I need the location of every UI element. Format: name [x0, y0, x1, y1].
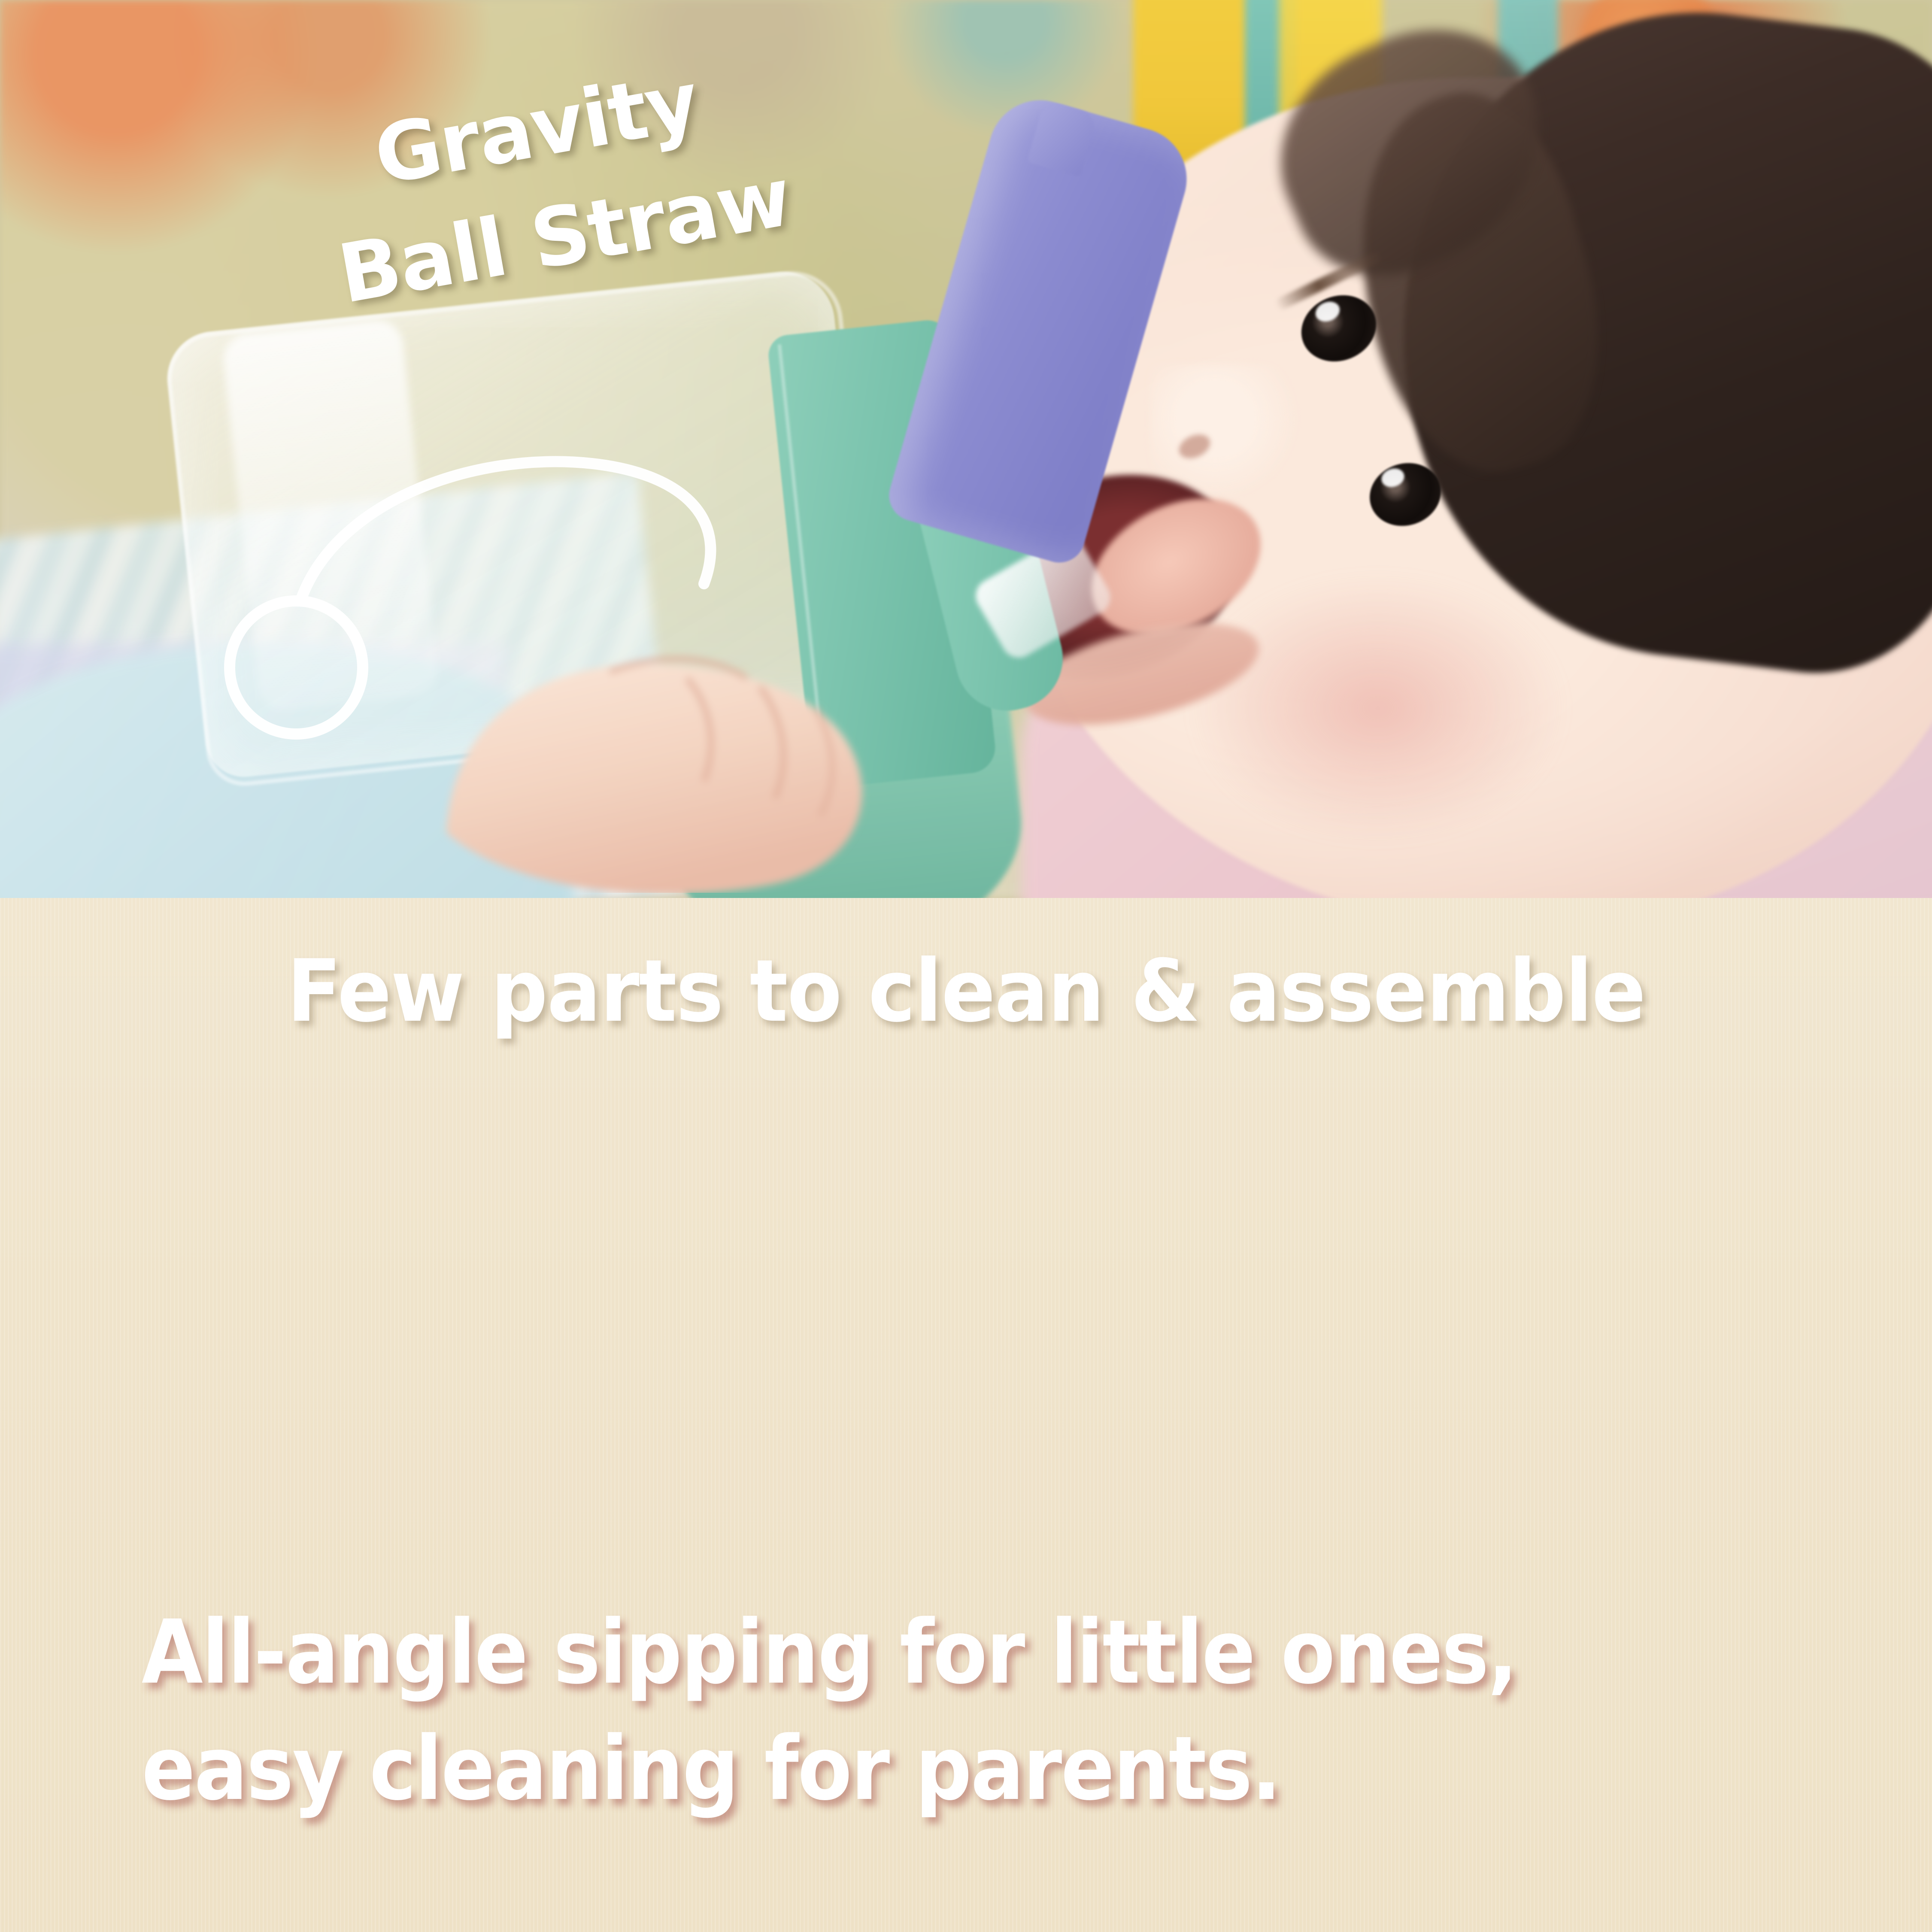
parts-section-title: Few parts to clean & assemble [68, 949, 1865, 1034]
baby-cheek-blush [1185, 571, 1571, 846]
product-poster: Gravity Ball Straw Few parts to clean & … [0, 0, 1932, 1932]
hero-photo: Gravity Ball Straw [0, 0, 1932, 898]
baby-hand [386, 507, 1030, 893]
bottom-tagline: All-angle sipping for little ones, easy … [142, 1595, 1517, 1827]
hero-headline: Gravity Ball Straw [326, 82, 1056, 382]
